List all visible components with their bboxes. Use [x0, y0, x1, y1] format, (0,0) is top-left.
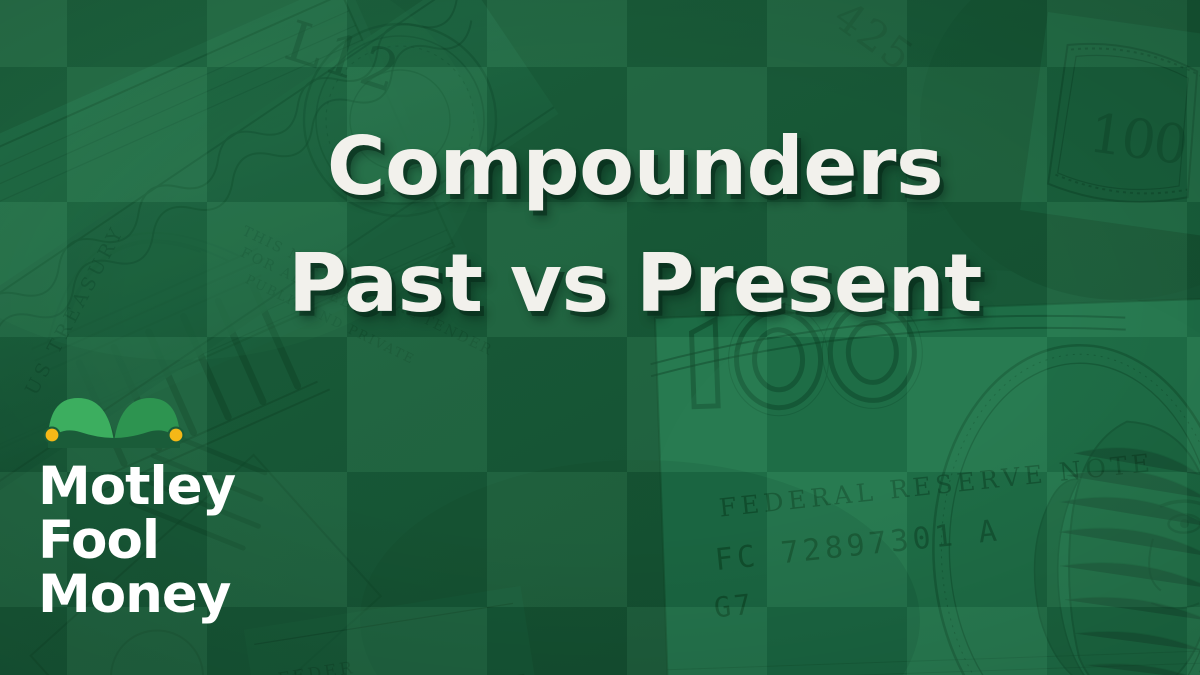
jester-hat-icon: [40, 392, 188, 448]
title-line-1: Compounders: [70, 108, 1200, 225]
logo-word-motley: Motley: [38, 460, 288, 514]
logo-word-money: Money: [38, 568, 288, 622]
motley-fool-money-logo: Motley Fool Money: [38, 392, 288, 622]
title-block: Compounders Past vs Present: [0, 108, 1200, 342]
title-line-2: Past vs Present: [70, 225, 1200, 342]
logo-word-fool: Fool: [38, 514, 288, 568]
logo-wordmark: Motley Fool Money: [38, 460, 288, 622]
video-thumbnail: L12 425 US TREASURY THIS NOTE IS LEGAL T…: [0, 0, 1200, 675]
